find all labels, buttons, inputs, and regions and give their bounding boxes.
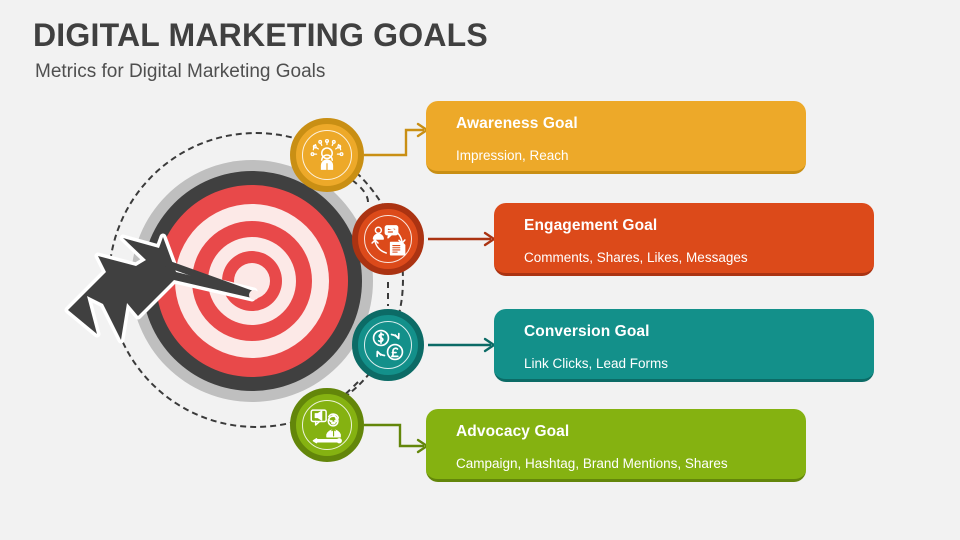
goal-card-title: Conversion Goal [524, 323, 874, 342]
goal-card-conversion[interactable]: Conversion Goal Link Clicks, Lead Forms [494, 309, 874, 382]
goal-card-metrics: Impression, Reach [456, 148, 806, 164]
icon-circle-awareness[interactable] [290, 118, 364, 192]
goal-card-title: Advocacy Goal [456, 423, 806, 442]
icon-circle-engagement[interactable] [352, 203, 424, 275]
awareness-person-idea-icon [306, 134, 348, 176]
goal-card-metrics: Comments, Shares, Likes, Messages [524, 250, 874, 266]
goal-card-engagement[interactable]: Engagement Goal Comments, Shares, Likes,… [494, 203, 874, 276]
advocacy-megaphone-person-icon [306, 404, 348, 446]
goal-card-title: Engagement Goal [524, 217, 874, 236]
conversion-currency-exchange-icon [367, 324, 409, 366]
goal-card-metrics: Campaign, Hashtag, Brand Mentions, Share… [456, 456, 806, 472]
page-title: DIGITAL MARKETING GOALS [33, 17, 488, 54]
goal-card-metrics: Link Clicks, Lead Forms [524, 356, 874, 372]
goal-card-title: Awareness Goal [456, 115, 806, 134]
icon-circle-conversion[interactable] [352, 309, 424, 381]
engagement-chat-document-icon [367, 218, 409, 260]
icon-circle-advocacy[interactable] [290, 388, 364, 462]
slide-canvas: DIGITAL MARKETING GOALS Metrics for Digi… [0, 0, 960, 540]
goal-card-awareness[interactable]: Awareness Goal Impression, Reach [426, 101, 806, 174]
goal-card-advocacy[interactable]: Advocacy Goal Campaign, Hashtag, Brand M… [426, 409, 806, 482]
page-subtitle: Metrics for Digital Marketing Goals [35, 61, 325, 83]
